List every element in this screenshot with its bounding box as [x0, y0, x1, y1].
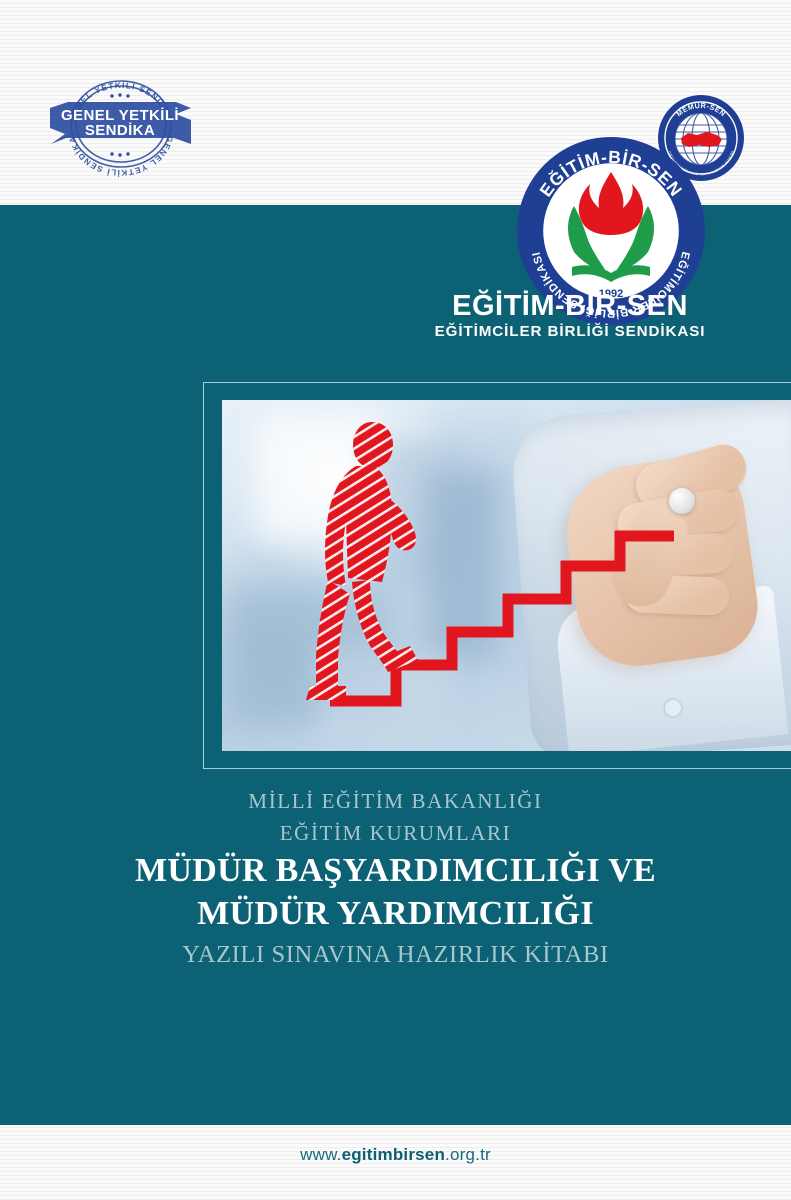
marker-tip-icon	[669, 488, 695, 514]
title-main-line-2: MÜDÜR YARDIMCILIĞI	[0, 893, 791, 936]
url-prefix: www.	[300, 1145, 341, 1164]
title-subtitle-2: EĞİTİM KURUMLARI	[0, 818, 791, 850]
stamp-stars-top	[110, 93, 129, 97]
footer: www.egitimbirsen.org.tr	[0, 1125, 791, 1200]
stamp-icon: GENEL YETKİLİ SENDİKA GENEL YETKİLİ SEND…	[48, 68, 193, 178]
wordmark-line1: EĞİTİM-BİR-SEN	[400, 292, 740, 322]
book-cover: GENEL YETKİLİ SENDİKA GENEL YETKİLİ SEND…	[0, 0, 791, 1200]
wordmark-line2: EĞİTİMCİLER BİRLİĞİ SENDİKASI	[400, 322, 740, 342]
stamp-arc-bottom-text: GENEL YETKİLİ SENDİKA	[67, 135, 174, 178]
title-main-line-1: MÜDÜR BAŞYARDIMCILIĞI VE	[0, 850, 791, 893]
url-domain: egitimbirsen	[342, 1145, 445, 1164]
cover-photo	[222, 400, 791, 751]
logo-wordmark: EĞİTİM-BİR-SEN EĞİTİMCİLER BİRLİĞİ SENDİ…	[400, 292, 740, 341]
red-person-silhouette	[306, 422, 418, 700]
url-suffix: .org.tr	[445, 1145, 491, 1164]
title-subtitle-1: MİLLİ EĞİTİM BAKANLIĞI	[0, 786, 791, 818]
stamp-banner-line2: SENDİKA	[85, 122, 155, 139]
title-block: MİLLİ EĞİTİM BAKANLIĞI EĞİTİM KURUMLARI …	[0, 786, 791, 974]
photo-red-graphics	[222, 400, 791, 751]
website-url[interactable]: www.egitimbirsen.org.tr	[0, 1145, 791, 1165]
genel-yetkili-sendika-stamp: GENEL YETKİLİ SENDİKA GENEL YETKİLİ SEND…	[48, 68, 193, 178]
stamp-stars-bottom	[110, 152, 129, 156]
title-subtitle-3: YAZILI SINAVINA HAZIRLIK KİTABI	[0, 935, 791, 974]
